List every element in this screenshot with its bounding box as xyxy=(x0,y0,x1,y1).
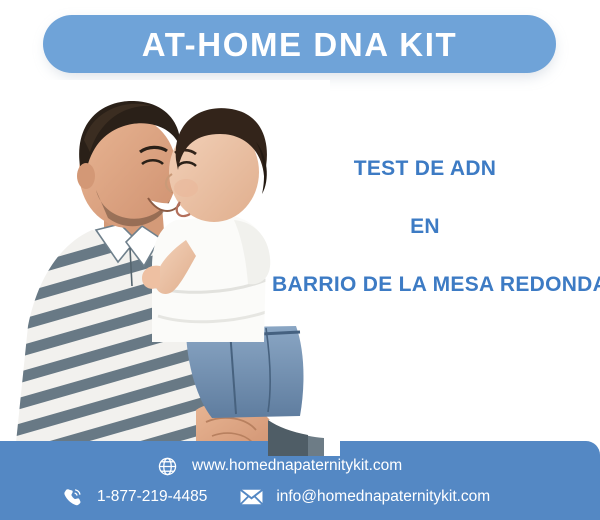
website-contact[interactable]: www.homednapaternitykit.com xyxy=(155,455,402,477)
banner-title: AT-HOME DNA KIT xyxy=(142,28,457,61)
footer-phone-email-row: 1-877-219-4485 info@homednapaternitykit.… xyxy=(60,486,490,508)
header-banner: AT-HOME DNA KIT xyxy=(43,15,556,73)
globe-icon xyxy=(155,455,179,477)
headline-line-2: EN xyxy=(250,216,600,237)
phone-contact[interactable]: 1-877-219-4485 xyxy=(60,486,207,508)
email-contact[interactable]: info@homednapaternitykit.com xyxy=(239,486,490,508)
headline-line-3: BARRIO DE LA MESA REDONDA xyxy=(272,274,600,295)
footer-website-row: www.homednapaternitykit.com xyxy=(155,455,402,477)
phone-icon xyxy=(60,486,84,508)
website-label: www.homednapaternitykit.com xyxy=(192,458,402,474)
headline-block: TEST DE ADN EN BARRIO DE LA MESA REDONDA xyxy=(250,158,600,295)
headline-line-1: TEST DE ADN xyxy=(250,158,600,179)
email-label: info@homednapaternitykit.com xyxy=(276,489,490,505)
photo-footer-overlap xyxy=(268,420,340,456)
poster-canvas: AT-HOME DNA KIT xyxy=(0,0,600,520)
envelope-icon xyxy=(239,486,263,508)
phone-label: 1-877-219-4485 xyxy=(97,489,207,505)
